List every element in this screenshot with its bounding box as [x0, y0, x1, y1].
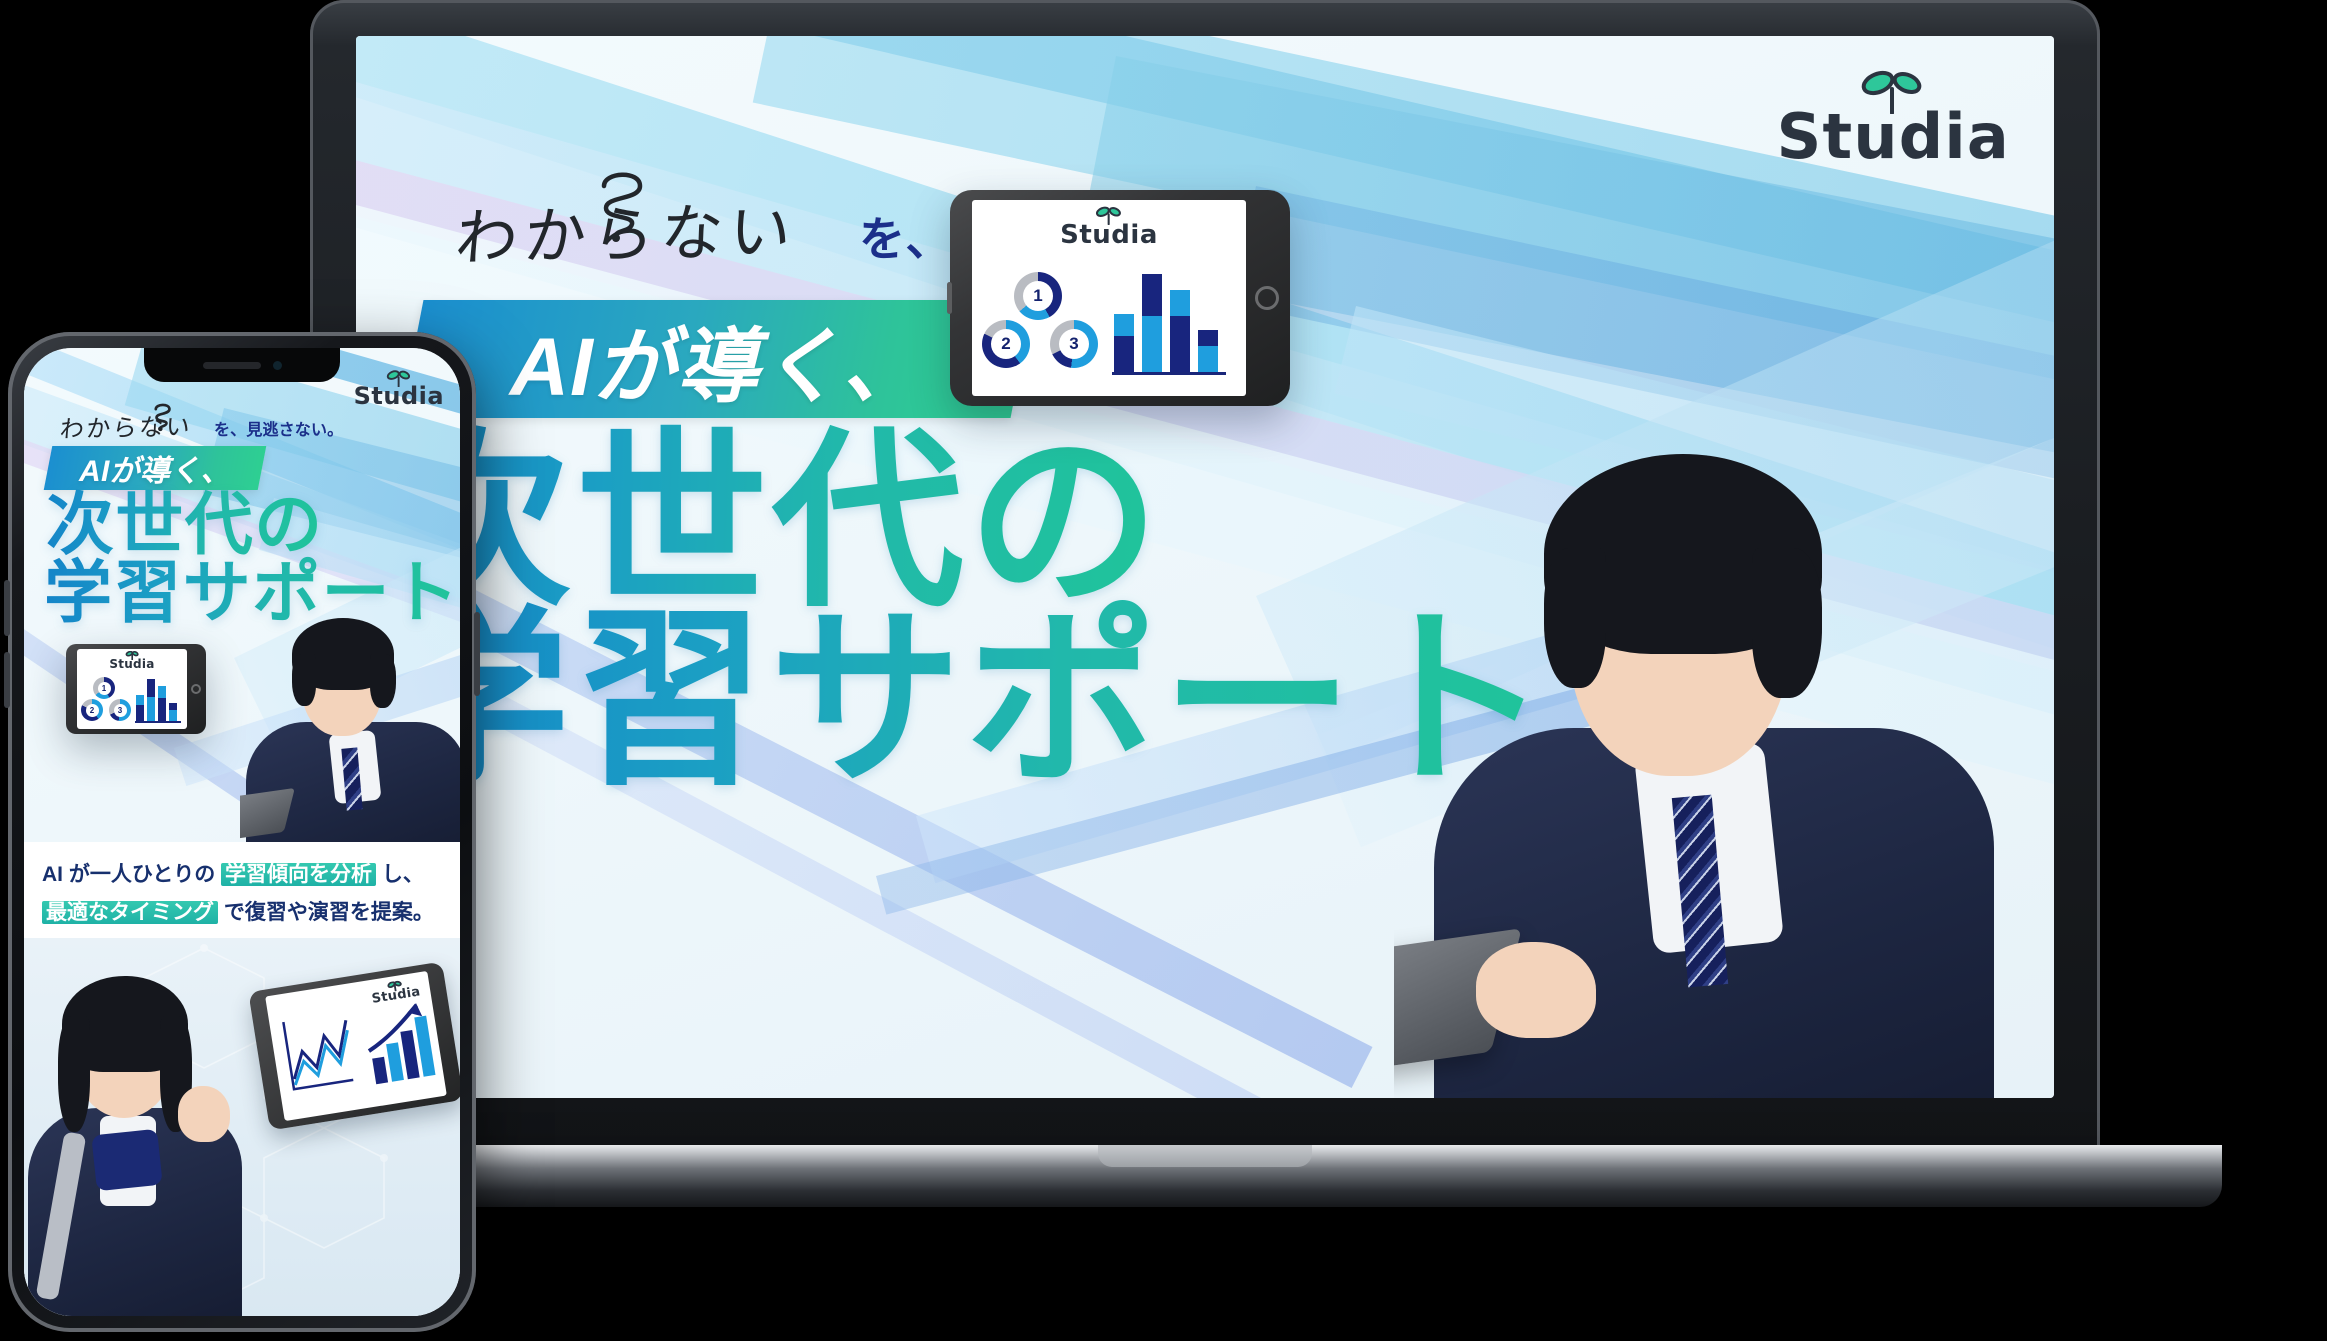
laptop-mockup: わからない を、見逃さない。 AIが導く、 次世代の 学習サポート: [310, 0, 2100, 1180]
bar-4-segment-blue: [1198, 346, 1218, 372]
bar-2: [147, 679, 155, 721]
tablet-home-button: [191, 684, 201, 694]
stacked-bar-chart: [1112, 260, 1226, 372]
front-camera-icon: [273, 361, 282, 370]
chart-baseline: [135, 721, 181, 723]
phone-mockup: わからない を、見逃さない。 Studia: [8, 332, 476, 1332]
subtext-2-highlight: 最適なタイミング: [42, 901, 218, 924]
student-male-photo: [1394, 398, 2034, 1098]
donut-label-2: 2: [90, 706, 94, 715]
tablet-brand-logo: Studia: [1060, 206, 1158, 248]
bar-2-segment-navy: [1142, 274, 1162, 316]
hair-side: [1544, 548, 1606, 688]
banner-label: AIが導く、: [79, 446, 231, 490]
phone-notch: [144, 348, 340, 382]
tablet-brand-logo: Studia: [109, 651, 154, 670]
bar-1-segment-blue: [136, 695, 144, 705]
laptop-screen: わからない を、見逃さない。 AIが導く、 次世代の 学習サポート: [356, 36, 2054, 1098]
phone-volume-up-button[interactable]: [4, 580, 10, 636]
phone-screen: わからない を、見逃さない。 Studia: [24, 348, 460, 1316]
subtext-2-suffix: で復習や演習を提案。: [218, 901, 434, 924]
ribbon-tie: [91, 1129, 162, 1192]
bar-4-segment-navy: [1198, 330, 1218, 346]
bar-1: [1114, 314, 1134, 372]
hair-side: [292, 654, 316, 706]
subtext-1-highlight: 学習傾向を分析: [221, 863, 376, 886]
bar-3-segment-navy: [158, 698, 166, 721]
bar-1-segment-blue: [1114, 314, 1134, 336]
brand-wordmark: Studia: [1777, 106, 2010, 168]
bar-4-segment-navy: [169, 703, 177, 710]
student-female-photo: [28, 956, 258, 1316]
bar-3: [158, 686, 166, 721]
bar-3-segment-blue: [158, 686, 166, 698]
hair-left: [58, 1016, 90, 1132]
brand-wordmark: Studia: [354, 384, 444, 408]
phone-volume-down-button[interactable]: [4, 652, 10, 708]
donut-label-2: 2: [1001, 334, 1010, 354]
donut-chart-3: 3: [1050, 320, 1098, 368]
hair-side-right: [370, 654, 396, 708]
bar-2-segment-blue: [1142, 316, 1162, 372]
tagline-blue: を、見逃さない。: [214, 423, 343, 439]
subtext-line-1: AI が一人ひとりの 学習傾向を分析 し、: [42, 858, 424, 888]
bar-4: [169, 703, 177, 721]
tagline-handwritten: わからない: [59, 415, 193, 442]
subtext-line-2: 最適なタイミング で復習や演習を提案。: [42, 896, 434, 926]
laptop-base-notch: [1098, 1145, 1312, 1167]
bar-3: [1170, 290, 1190, 372]
screenshot-canvas: わからない を、見逃さない。 AIが導く、 次世代の 学習サポート: [0, 0, 2327, 1341]
subtext-1-prefix: AI が一人ひとりの: [42, 863, 221, 886]
bar-2-segment-blue: [147, 697, 155, 721]
brand-logo: Studia: [1777, 70, 2010, 168]
donut-chart-1: 1: [93, 677, 115, 699]
donut-chart-1: 1: [1014, 272, 1062, 320]
growth-tablet: Studia: [248, 962, 460, 1131]
stacked-bar-chart: [135, 673, 181, 721]
bar-4-segment-blue: [169, 710, 177, 721]
tablet-card: Studia 1 2 3: [66, 644, 206, 734]
donut-label-1: 1: [102, 684, 106, 693]
donut-chart-2: 2: [982, 320, 1030, 368]
headline-line-1: 次世代の: [46, 488, 323, 563]
bar-1: [136, 695, 144, 721]
poster-laptop: わからない を、見逃さない。 AIが導く、 次世代の 学習サポート: [356, 36, 2054, 1098]
subtext-1-suffix: し、: [376, 863, 424, 886]
raised-fist: [178, 1086, 230, 1142]
bar-2-segment-navy: [147, 679, 155, 697]
donut-chart-2: 2: [81, 699, 103, 721]
headline-line-2: 学習サポート: [378, 596, 1553, 803]
hair-side-right: [1752, 548, 1822, 698]
bottom-hex-panel: Studia: [24, 938, 460, 1316]
donut-label-3: 3: [118, 706, 122, 715]
donut-label-3: 3: [1069, 334, 1078, 354]
bar-2: [1142, 274, 1162, 372]
student-male-photo: [240, 596, 460, 846]
poster-tagline: わからない を、見逃さない。: [60, 416, 343, 440]
tablet-home-button: [1255, 286, 1279, 310]
phone-power-button[interactable]: [474, 612, 480, 696]
banner-label: AIが導く、: [510, 300, 925, 419]
tagline-handwritten: わからない: [453, 200, 800, 269]
tablet-volume-button: [947, 282, 952, 314]
brand-logo: Studia: [354, 370, 444, 408]
poster-banner: AIが導く、: [44, 446, 267, 490]
chart-baseline: [1112, 372, 1226, 375]
bar-3-segment-blue: [1170, 290, 1190, 316]
bar-1-segment-navy: [1114, 336, 1134, 372]
tablet-card: Studia 1 2: [950, 190, 1290, 406]
tablet-screen: Studia 1 2 3: [77, 649, 187, 729]
bar-4: [1198, 330, 1218, 372]
poster-phone: わからない を、見逃さない。 Studia: [24, 348, 460, 1316]
speaker-grille-icon: [203, 362, 261, 369]
bar-3-segment-navy: [1170, 316, 1190, 372]
tablet-screen: Studia 1 2: [972, 200, 1246, 396]
donut-chart-3: 3: [109, 699, 131, 721]
hand: [1476, 942, 1596, 1038]
tablet-brand-wordmark: Studia: [109, 658, 154, 670]
bar-1-segment-navy: [136, 705, 144, 721]
donut-label-1: 1: [1033, 286, 1042, 306]
tablet-brand-wordmark: Studia: [1060, 222, 1158, 248]
poster-banner: AIが導く、: [401, 300, 1034, 418]
